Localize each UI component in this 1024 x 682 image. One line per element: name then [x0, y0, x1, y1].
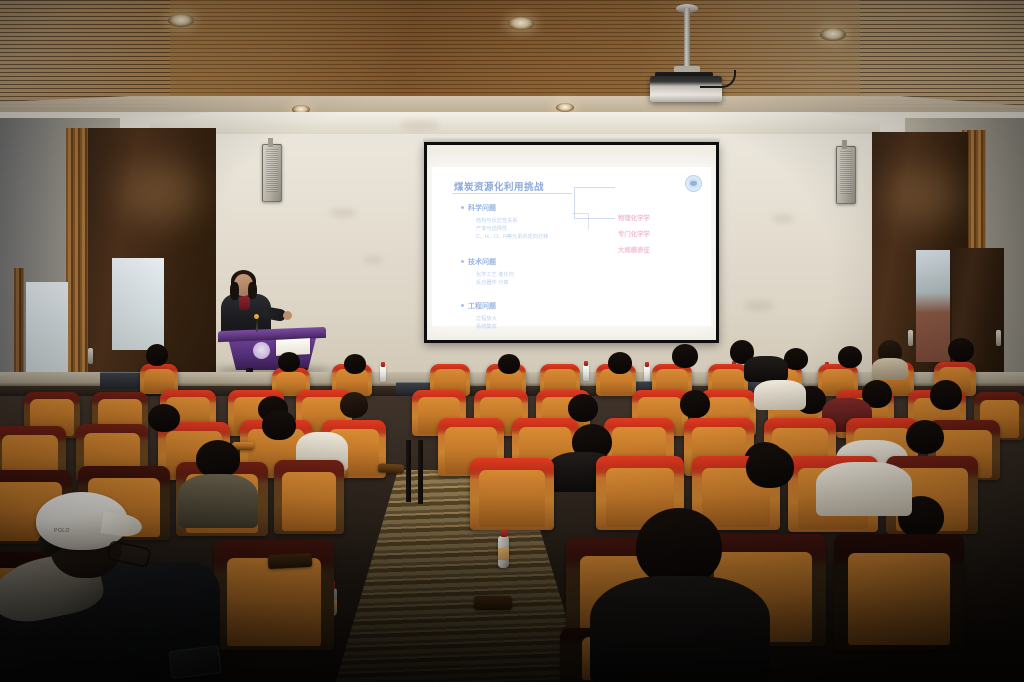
wall-mark-4	[744, 300, 774, 311]
projector-pole	[684, 8, 690, 68]
door-left-window	[112, 258, 164, 350]
armrest-2	[378, 463, 404, 473]
wall-mark-2	[364, 256, 382, 264]
wall-mark-1	[330, 208, 356, 218]
university-seal-logo	[685, 175, 702, 192]
projection-screen[interactable]: 煤炭资源化利用挑战 科学问题 结构与反应性关系 产率与选择性 C、H、O、N等元…	[424, 142, 719, 343]
audience-head-r1-2	[278, 352, 300, 372]
seat-r4-4[interactable]	[274, 460, 344, 534]
downlight-3	[820, 28, 846, 41]
audience-body-r1-7	[744, 356, 788, 382]
audience-body-r2-5	[754, 380, 806, 410]
door-right-window	[916, 250, 950, 362]
presentation-slide: 煤炭资源化利用挑战 科学问题 结构与反应性关系 产率与选择性 C、H、O、N等元…	[432, 167, 711, 326]
slide-section-3-line-2: 系统集成	[476, 323, 497, 330]
slide-title: 煤炭资源化利用挑战	[454, 179, 544, 193]
audience-body-r1-10	[872, 358, 908, 380]
slide-section-heading-2: 技术问题	[468, 257, 496, 267]
audience-head-r3-2	[148, 404, 180, 432]
slide-section-heading-3: 工程问题	[468, 301, 496, 311]
audience-head-r3-1	[262, 410, 296, 440]
armrest-fg-1	[268, 553, 313, 569]
audience-body-foreground-center	[590, 576, 770, 682]
wood-pilaster-left	[66, 128, 88, 378]
seat-leg-1	[406, 440, 411, 502]
water-bottle-4	[644, 366, 650, 382]
window-left-outer	[26, 282, 68, 378]
downlight-1	[168, 14, 194, 27]
audience-head-r1-6	[672, 344, 698, 368]
downlight-2	[508, 17, 534, 30]
presenter-hand	[283, 311, 292, 320]
slide-section-3-line-1: 过程放大	[476, 315, 497, 322]
slide-section-1-line-2: 产率与选择性	[476, 225, 507, 232]
cap-logo-text: POLO	[54, 528, 70, 534]
audience-head-r2-4	[680, 390, 710, 418]
water-bottle-3	[583, 365, 589, 381]
audience-head-r2-7	[930, 380, 962, 410]
seat-r5-5[interactable]	[834, 534, 964, 650]
seat-leg-2	[418, 440, 423, 504]
slide-right-item-2: 专门化学学	[618, 229, 650, 238]
window-frame-left	[14, 268, 24, 380]
slide-right-item-3: 大规模表征	[618, 245, 650, 254]
water-bottle-1	[380, 366, 386, 382]
slide-section-2-line-2: 反应器件 分离	[476, 279, 509, 286]
slide-right-item-1: 物理化学学	[618, 213, 650, 222]
armrest-fg-2	[474, 596, 512, 610]
presenter-scarf	[239, 296, 250, 310]
slide-title-rule	[452, 193, 572, 194]
door-left-glow	[120, 160, 200, 224]
audience-head-r1-5	[608, 352, 632, 374]
audience-head-r2-2	[340, 392, 368, 418]
audience-body-r4-2	[816, 462, 912, 516]
audience-head-r1-9	[838, 346, 862, 368]
slide-section-1-line-3: C、H、O、N等元素的定向迁移	[476, 233, 548, 240]
presenter-hair-left	[230, 282, 239, 300]
wall-speaker-right	[836, 146, 856, 204]
presenter-hair-right	[248, 282, 257, 299]
seat-r4-5[interactable]	[470, 458, 554, 530]
speaker-bracket-left	[268, 138, 273, 147]
audience-head-r1-11	[948, 338, 974, 362]
downlight-5	[556, 103, 574, 112]
slide-section-heading-1: 科学问题	[468, 203, 496, 213]
door-right-panel-handle[interactable]	[996, 330, 1001, 346]
foreground-person-with-cap: POLO	[0, 470, 240, 682]
door-right-glow	[886, 164, 962, 226]
wall-speaker-left	[262, 144, 282, 202]
door-left-handle[interactable]	[88, 348, 93, 364]
door-right-handle[interactable]	[908, 330, 913, 346]
water-bottle-aisle	[498, 536, 509, 568]
slide-section-2-line-1: 化学工艺 催化剂	[476, 271, 514, 278]
audience-head-r1-1	[146, 344, 168, 366]
slide-brace-2	[572, 213, 589, 230]
wall-mark-5	[400, 120, 440, 130]
wall-soffit	[150, 112, 880, 134]
audience-head-r1-4	[498, 354, 520, 374]
audience-head-r3-5	[906, 420, 944, 454]
slide-section-1-line-1: 结构与反应性关系	[476, 217, 518, 224]
microphone-stem	[256, 318, 258, 332]
lecture-hall-photo: 煤炭资源化利用挑战 科学问题 结构与反应性关系 产率与选择性 C、H、O、N等元…	[0, 0, 1024, 682]
lectern-emblem	[253, 342, 270, 359]
speaker-bracket-right	[842, 140, 847, 149]
audience-head-r4-2	[746, 446, 794, 488]
microphone-head	[254, 314, 259, 319]
screen-surface: 煤炭资源化利用挑战 科学问题 结构与反应性关系 产率与选择性 C、H、O、N等元…	[427, 145, 716, 340]
audience-head-foreground-center	[636, 508, 722, 586]
audience-head-r1-3	[344, 354, 366, 374]
wall-mark-3	[772, 214, 794, 223]
